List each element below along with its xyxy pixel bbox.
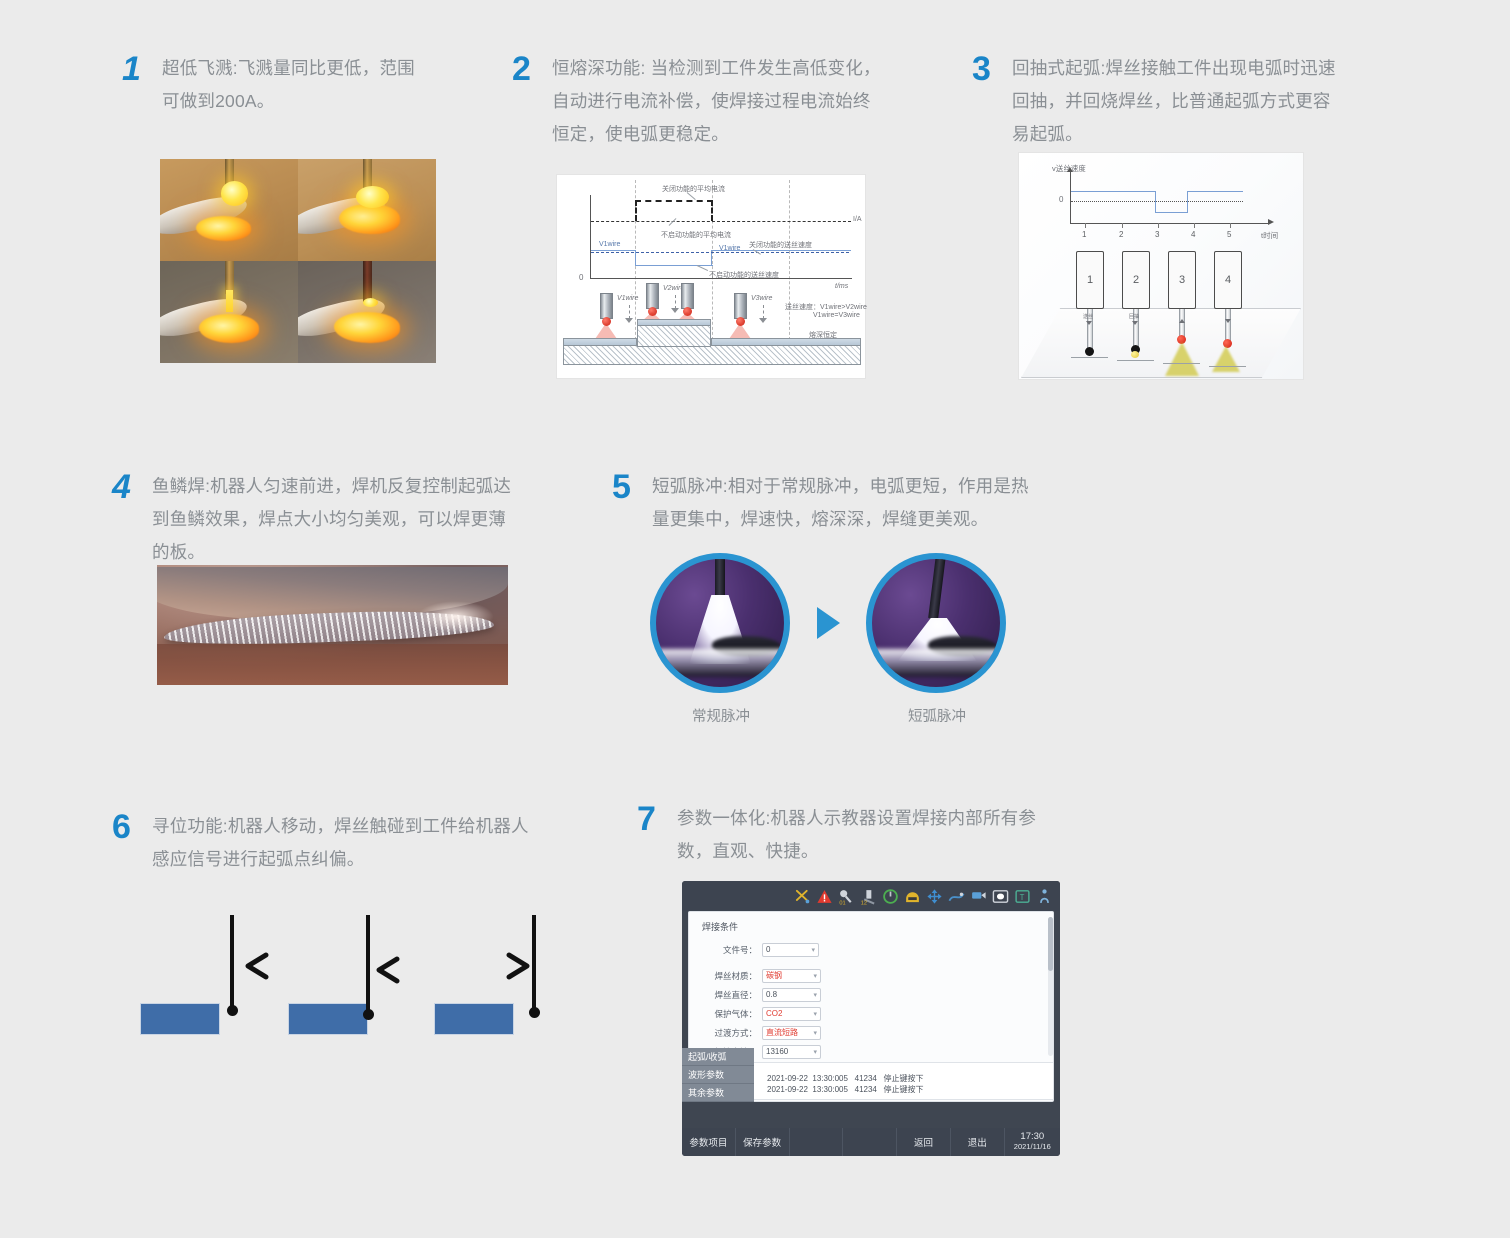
region-divider — [789, 180, 790, 345]
feature-4-heading: 4 鱼鳞焊:机器人匀速前进，焊机反复控制起弧达 到鱼鳞效果，焊点大小均匀美观，可… — [112, 470, 532, 569]
chart3-wave-rising — [1187, 191, 1188, 213]
seam-search-stage-3 — [420, 915, 550, 1040]
x-axis-label: t/ms — [835, 283, 848, 290]
torch-stage-1-arrow — [1086, 321, 1092, 325]
y-axis — [590, 195, 591, 279]
field-label: 保护气体： — [699, 1008, 757, 1020]
feature-3-heading: 3 回抽式起弧:焊丝接触工件出现电弧时迅速 回抽，并回烧焊丝，比普通起弧方式更容… — [972, 52, 1372, 151]
torch-stage-1: 1 — [1076, 251, 1104, 309]
footer-button-back[interactable]: 返回 — [897, 1128, 951, 1156]
transfer-mode-select[interactable]: 直流短路 ▾ — [762, 1026, 821, 1040]
base-metal-surface-left — [563, 338, 637, 346]
molten-droplet — [221, 181, 249, 205]
x-tick — [1085, 223, 1086, 228]
chart-plot-area: I/A t/ms 0 关闭功能的平均电流 不启动功能的平均电流 V1wire V… — [557, 175, 865, 378]
feature-1-photo-grid — [160, 159, 436, 363]
feature-6-heading: 6 寻位功能:机器人移动，焊丝触碰到工件给机器人 感应信号进行起弧点纠偏。 — [112, 810, 572, 876]
annotation-function-on-current: 关闭功能的平均电流 — [662, 184, 725, 194]
molten-droplet — [356, 186, 389, 208]
torch-1-arc — [595, 323, 617, 339]
workpiece-plane — [1021, 308, 1301, 378]
text-t-icon[interactable]: T — [1013, 887, 1032, 906]
move-axes-icon[interactable] — [925, 887, 944, 906]
field-value: 直流短路 — [766, 1027, 798, 1038]
welding-photo-top-left — [160, 159, 298, 261]
molten-pool — [334, 312, 400, 343]
feature-block-7: 7 参数一体化:机器人示教器设置焊接内部所有参 数，直观、快捷。 — [637, 802, 1087, 868]
field-value: 0 — [766, 945, 770, 954]
x-tick-label-4: 4 — [1191, 230, 1195, 239]
torch-3 — [734, 293, 747, 319]
log-line: 2021-09-22 13:30:005 41234 停止键按下 — [767, 1073, 924, 1084]
retract-direction-chevron-icon — [504, 951, 534, 981]
workpiece-block — [288, 1003, 368, 1035]
torch-stage-1-note: 送丝 — [1083, 313, 1093, 320]
short-arc-pulse-photo — [866, 553, 1006, 693]
annotation-function-off-speed: 不启动功能的送丝速度 — [709, 270, 779, 280]
chart3-x-axis-label: t时间 — [1261, 230, 1278, 241]
chart3-zero-line — [1071, 201, 1243, 202]
contact-line-1 — [1071, 357, 1108, 358]
teach-pendant-screen[interactable]: 01 12 — [682, 881, 1060, 1156]
contact-line-3 — [1163, 363, 1200, 364]
contact-line-4 — [1209, 366, 1246, 367]
feature-1-number: 1 — [122, 52, 148, 86]
torch-stage-3: 3 — [1168, 251, 1196, 309]
chevron-down-icon[interactable]: ▾ — [813, 1029, 817, 1037]
x-tick-label-2: 2 — [1119, 230, 1123, 239]
electrode — [928, 555, 946, 620]
wire-speed-label-v1: V1wire — [599, 241, 620, 248]
side-tab-label: 起弧/收弧 — [688, 1050, 727, 1063]
step-fall-edge — [711, 200, 713, 221]
side-tab-group[interactable]: 起弧/收弧 波形参数 其余参数 — [682, 1048, 754, 1102]
chevron-down-icon[interactable]: ▾ — [813, 972, 817, 980]
pendant-footer[interactable]: 参数项目 保存参数 返回 退出 17:30 2021/11/16 — [682, 1128, 1060, 1156]
feature-block-2: 2 恒熔深功能: 当检测到工件发生高低变化， 自动进行电流补偿，使焊接过程电流始… — [512, 52, 932, 151]
feature-list-page: 1 超低飞溅:飞溅量同比更低，范围 可做到200A。 — [0, 0, 1510, 1238]
raised-step — [637, 323, 711, 347]
feature-block-4: 4 鱼鳞焊:机器人匀速前进，焊机反复控制起弧达 到鱼鳞效果，焊点大小均匀美观，可… — [112, 470, 532, 569]
chart3-wave-high-1 — [1071, 191, 1156, 192]
welding-wire-probe — [230, 915, 234, 1011]
side-tab-label: 其余参数 — [688, 1086, 724, 1099]
annotation-function-off-current: 不启动功能的平均电流 — [661, 230, 731, 240]
field-row-wire-diameter: 焊丝直径： 0.8 ▾ — [699, 987, 821, 1002]
feature-7-heading: 7 参数一体化:机器人示教器设置焊接内部所有参 数，直观、快捷。 — [637, 802, 1087, 868]
field-label: 文件号： — [699, 944, 757, 956]
torch-stage-2-spark — [1131, 351, 1139, 358]
wire-material-select[interactable]: 碳钢 ▾ — [762, 969, 821, 983]
svg-text:01: 01 — [839, 900, 845, 905]
helmet-icon[interactable] — [903, 887, 922, 906]
x-tick — [1158, 223, 1159, 228]
chart3-wave-falling — [1155, 191, 1156, 213]
constant-penetration-chart: I/A t/ms 0 关闭功能的平均电流 不启动功能的平均电流 V1wire V… — [556, 174, 866, 379]
feature-7-description: 参数一体化:机器人示教器设置焊接内部所有参 数，直观、快捷。 — [677, 802, 1036, 868]
welding-photo-bottom-left — [160, 261, 298, 363]
x-tick-label-5: 5 — [1227, 230, 1231, 239]
torch-stage-2-label: 2 — [1133, 274, 1139, 286]
feature-4-number: 4 — [112, 470, 138, 504]
chart3-y-arrow — [1067, 167, 1073, 172]
x-tick — [1230, 223, 1231, 228]
panel-title: 焊接条件 — [702, 920, 738, 933]
shield-gas-select[interactable]: CO2 ▾ — [762, 1007, 821, 1021]
robot-axis-12-icon[interactable]: 12 — [859, 887, 878, 906]
wire-diameter-select[interactable]: 0.8 ▾ — [762, 988, 821, 1002]
torch-stage-2-arrow — [1132, 321, 1138, 325]
torch-2-arrow-stem — [675, 295, 676, 309]
torch-3-arrow-stem — [763, 305, 764, 319]
lower-plate — [157, 644, 508, 685]
field-value: 13160 — [766, 1047, 788, 1056]
torch-1-arrow-stem — [629, 305, 630, 319]
molten-bridge — [226, 290, 233, 312]
feature-7-number: 7 — [637, 802, 663, 836]
torch-stage-4-arrow — [1225, 319, 1231, 323]
raised-step-surface — [637, 319, 711, 326]
wire-tip — [227, 1005, 238, 1016]
scrollbar-thumb[interactable] — [1048, 917, 1053, 971]
molten-pool — [339, 204, 400, 235]
torch-stage-3-arrow — [1179, 319, 1185, 323]
x-tick — [1122, 223, 1123, 228]
torch-stage-4-label: 4 — [1225, 274, 1231, 286]
weld-pool — [872, 649, 1000, 677]
field-value: CO2 — [766, 1009, 782, 1018]
feature-6-number: 6 — [112, 810, 138, 844]
field-label: 焊丝材质： — [699, 970, 757, 982]
field-row-transfer-mode: 过渡方式： 直流短路 ▾ — [699, 1025, 821, 1040]
wire-feed-icon[interactable] — [947, 887, 966, 906]
welding-photo-top-right — [298, 159, 436, 261]
chart3-x-arrow — [1268, 219, 1274, 225]
x-tick-label-1: 1 — [1082, 230, 1086, 239]
welding-photo-bottom-right — [298, 261, 436, 363]
chart3-wave-low — [1155, 212, 1188, 213]
field-value: 碳钢 — [766, 970, 782, 981]
wire-speed-label-v1b: V1wire — [719, 245, 740, 252]
approach-direction-chevron-icon — [241, 951, 271, 981]
torch-stage-2: 2 — [1122, 251, 1150, 309]
square-record-icon[interactable] — [991, 887, 1010, 906]
field-row-wire-material: 焊丝材质： 碳钢 ▾ — [699, 968, 821, 983]
chevron-down-icon[interactable]: ▾ — [811, 946, 815, 954]
conventional-pulse-caption: 常规脉冲 — [641, 705, 801, 726]
contact-direction-chevron-icon — [372, 955, 402, 985]
molten-pool — [196, 216, 251, 240]
chevron-down-icon[interactable]: ▾ — [813, 1010, 817, 1018]
torch-stage-2-note: 回抽 — [1129, 313, 1139, 320]
torch-1 — [600, 293, 613, 319]
step-rise-edge — [635, 200, 637, 221]
log-line: 2021-09-22 13:30:005 41234 停止键按下 — [767, 1084, 924, 1095]
weld-pool — [656, 649, 784, 677]
average-current-baseline — [591, 221, 851, 222]
field-label: 过渡方式： — [699, 1027, 757, 1039]
chart3-wave-high-2 — [1187, 191, 1243, 192]
wire-tip — [529, 1007, 540, 1018]
feature-2-heading: 2 恒熔深功能: 当检测到工件发生高低变化， 自动进行电流补偿，使焊接过程电流始… — [512, 52, 932, 151]
person-icon[interactable] — [1035, 887, 1054, 906]
weld-gun-icon[interactable] — [969, 887, 988, 906]
wire-speed-reference — [591, 252, 849, 253]
feature-block-1: 1 超低飞溅:飞溅量同比更低，范围 可做到200A。 — [122, 52, 542, 118]
feature-3-number: 3 — [972, 52, 998, 86]
chevron-down-icon[interactable]: ▾ — [813, 1048, 817, 1056]
weld-method-select[interactable]: 13160 ▾ — [762, 1045, 821, 1059]
torch-stage-4-wire — [1225, 309, 1231, 343]
seam-search-stage-2 — [272, 915, 402, 1040]
clock-date: 2021/11/16 — [1014, 1143, 1051, 1152]
contact-line-2 — [1117, 360, 1154, 361]
scissors-tools-icon[interactable] — [793, 887, 812, 906]
welding-wire-probe — [366, 915, 370, 1015]
chart3-origin-label: 0 — [1059, 195, 1063, 204]
torch-1-arrow-head — [625, 318, 633, 323]
footer-button-empty-1[interactable] — [790, 1128, 844, 1156]
field-label: 焊丝直径： — [699, 989, 757, 1001]
circle-arrow-icon[interactable] — [881, 887, 900, 906]
torch-stage-3-arc-flare — [1165, 342, 1199, 376]
feature-5-number: 5 — [612, 470, 638, 504]
footer-button-empty-2[interactable] — [843, 1128, 897, 1156]
feature-1-heading: 1 超低飞溅:飞溅量同比更低，范围 可做到200A。 — [122, 52, 542, 118]
field-row-shield-gas: 保护气体： CO2 ▾ — [699, 1006, 821, 1021]
torch-3-label: V3wire — [751, 295, 772, 302]
torch-1-label: V1wire — [617, 295, 638, 302]
torch-2b — [681, 283, 694, 309]
conventional-pulse-arc-photo — [650, 553, 790, 693]
footer-clock: 17:30 2021/11/16 — [1005, 1128, 1060, 1156]
side-tab-label: 波形参数 — [688, 1068, 724, 1081]
feature-2-description: 恒熔深功能: 当检测到工件发生高低变化， 自动进行电流补偿，使焊接过程电流始终 … — [552, 52, 881, 151]
feature-4-description: 鱼鳞焊:机器人匀速前进，焊机反复控制起弧达 到鱼鳞效果，焊点大小均匀美观，可以焊… — [152, 470, 511, 569]
file-number-select[interactable]: 0 ▾ — [762, 943, 819, 957]
feature-5-description: 短弧脉冲:相对于常规脉冲，电弧更短，作用是热 量更集中，焊速快，熔深深，焊缝更美… — [652, 470, 1029, 536]
field-value: 0.8 — [766, 990, 777, 999]
side-tab-arc-start-end[interactable]: 起弧/收弧 — [682, 1048, 754, 1066]
feature-6-description: 寻位功能:机器人移动，焊丝触碰到工件给机器人 感应信号进行起弧点纠偏。 — [152, 810, 529, 876]
seam-search-stage-1 — [140, 915, 260, 1040]
torch-2a — [646, 283, 659, 309]
feature-block-3: 3 回抽式起弧:焊丝接触工件出现电弧时迅速 回抽，并回烧焊丝，比普通起弧方式更容… — [972, 52, 1372, 151]
footer-button-save-params[interactable]: 保存参数 — [736, 1128, 790, 1156]
torch-3-arc — [729, 323, 751, 339]
warning-triangle-icon[interactable] — [815, 887, 834, 906]
field-row-file-number: 文件号： 0 ▾ — [699, 942, 819, 957]
feature-block-5: 5 短弧脉冲:相对于常规脉冲，电弧更短，作用是热 量更集中，焊速快，熔深深，焊缝… — [612, 470, 1032, 536]
footer-button-exit[interactable]: 退出 — [951, 1128, 1005, 1156]
feature-2-number: 2 — [512, 52, 538, 86]
torch-3-arrow-head — [759, 318, 767, 323]
workpiece-block — [140, 1003, 220, 1035]
chart3-x-axis — [1070, 223, 1270, 224]
base-metal — [563, 343, 861, 365]
molten-droplet — [363, 298, 378, 307]
bead-highlight — [417, 601, 494, 632]
feature-5-heading: 5 短弧脉冲:相对于常规脉冲，电弧更短，作用是热 量更集中，焊速快，熔深深，焊缝… — [612, 470, 1032, 536]
torch-stage-4-arc-flare — [1212, 346, 1240, 372]
molten-pool — [199, 314, 260, 343]
feature-block-6: 6 寻位功能:机器人移动，焊丝触碰到工件给机器人 感应信号进行起弧点纠偏。 — [112, 810, 572, 876]
panel-scrollbar[interactable] — [1048, 917, 1053, 1056]
robot-axis-01-icon[interactable]: 01 — [837, 887, 856, 906]
base-metal-surface-right — [711, 338, 861, 346]
speed-relation-note-1: 送丝速度：V1wire>V2wire — [785, 302, 867, 312]
y-axis-label: I/A — [853, 216, 862, 223]
side-tab-other-params[interactable]: 其余参数 — [682, 1084, 754, 1102]
arc-photo-inner — [872, 559, 1000, 687]
feature-4-weld-bead-photo — [157, 565, 508, 685]
retract-arc-start-diagram: v送丝速度 0 1 2 3 4 5 t时间 1 送丝 — [1018, 152, 1304, 380]
wire-tip — [363, 1009, 374, 1020]
comparison-arrow-icon — [817, 607, 840, 639]
arc-photo-inner — [656, 559, 784, 687]
torch-stage-4: 4 — [1214, 251, 1242, 309]
average-current-stepped — [635, 200, 713, 202]
torch-stage-3-label: 3 — [1179, 274, 1185, 286]
welding-wire — [363, 261, 372, 302]
torch-stage-1-label: 1 — [1087, 274, 1093, 286]
workpiece-block — [434, 1003, 514, 1035]
short-arc-pulse-caption: 短弧脉冲 — [857, 705, 1017, 726]
feature-3-description: 回抽式起弧:焊丝接触工件出现电弧时迅速 回抽，并回烧焊丝，比普通起弧方式更容 易… — [1012, 52, 1336, 151]
svg-text:T: T — [1020, 893, 1025, 902]
side-tab-waveform-params[interactable]: 波形参数 — [682, 1066, 754, 1084]
chart3-y-axis — [1070, 171, 1071, 224]
origin-label: 0 — [579, 273, 583, 282]
x-tick-label-3: 3 — [1155, 230, 1159, 239]
annotation-function-on-speed: 关闭功能的送丝速度 — [749, 240, 812, 250]
feature-1-description: 超低飞溅:飞溅量同比更低，范围 可做到200A。 — [162, 52, 415, 118]
svg-text:12: 12 — [861, 900, 867, 905]
torch-stage-1-tip — [1085, 347, 1094, 356]
x-tick — [1194, 223, 1195, 228]
chevron-down-icon[interactable]: ▾ — [813, 991, 817, 999]
speed-relation-note-2: V1wire=V3wire — [813, 312, 860, 319]
pendant-toolbar[interactable]: 01 12 — [682, 881, 1060, 911]
footer-button-param-items[interactable]: 参数项目 — [682, 1128, 736, 1156]
